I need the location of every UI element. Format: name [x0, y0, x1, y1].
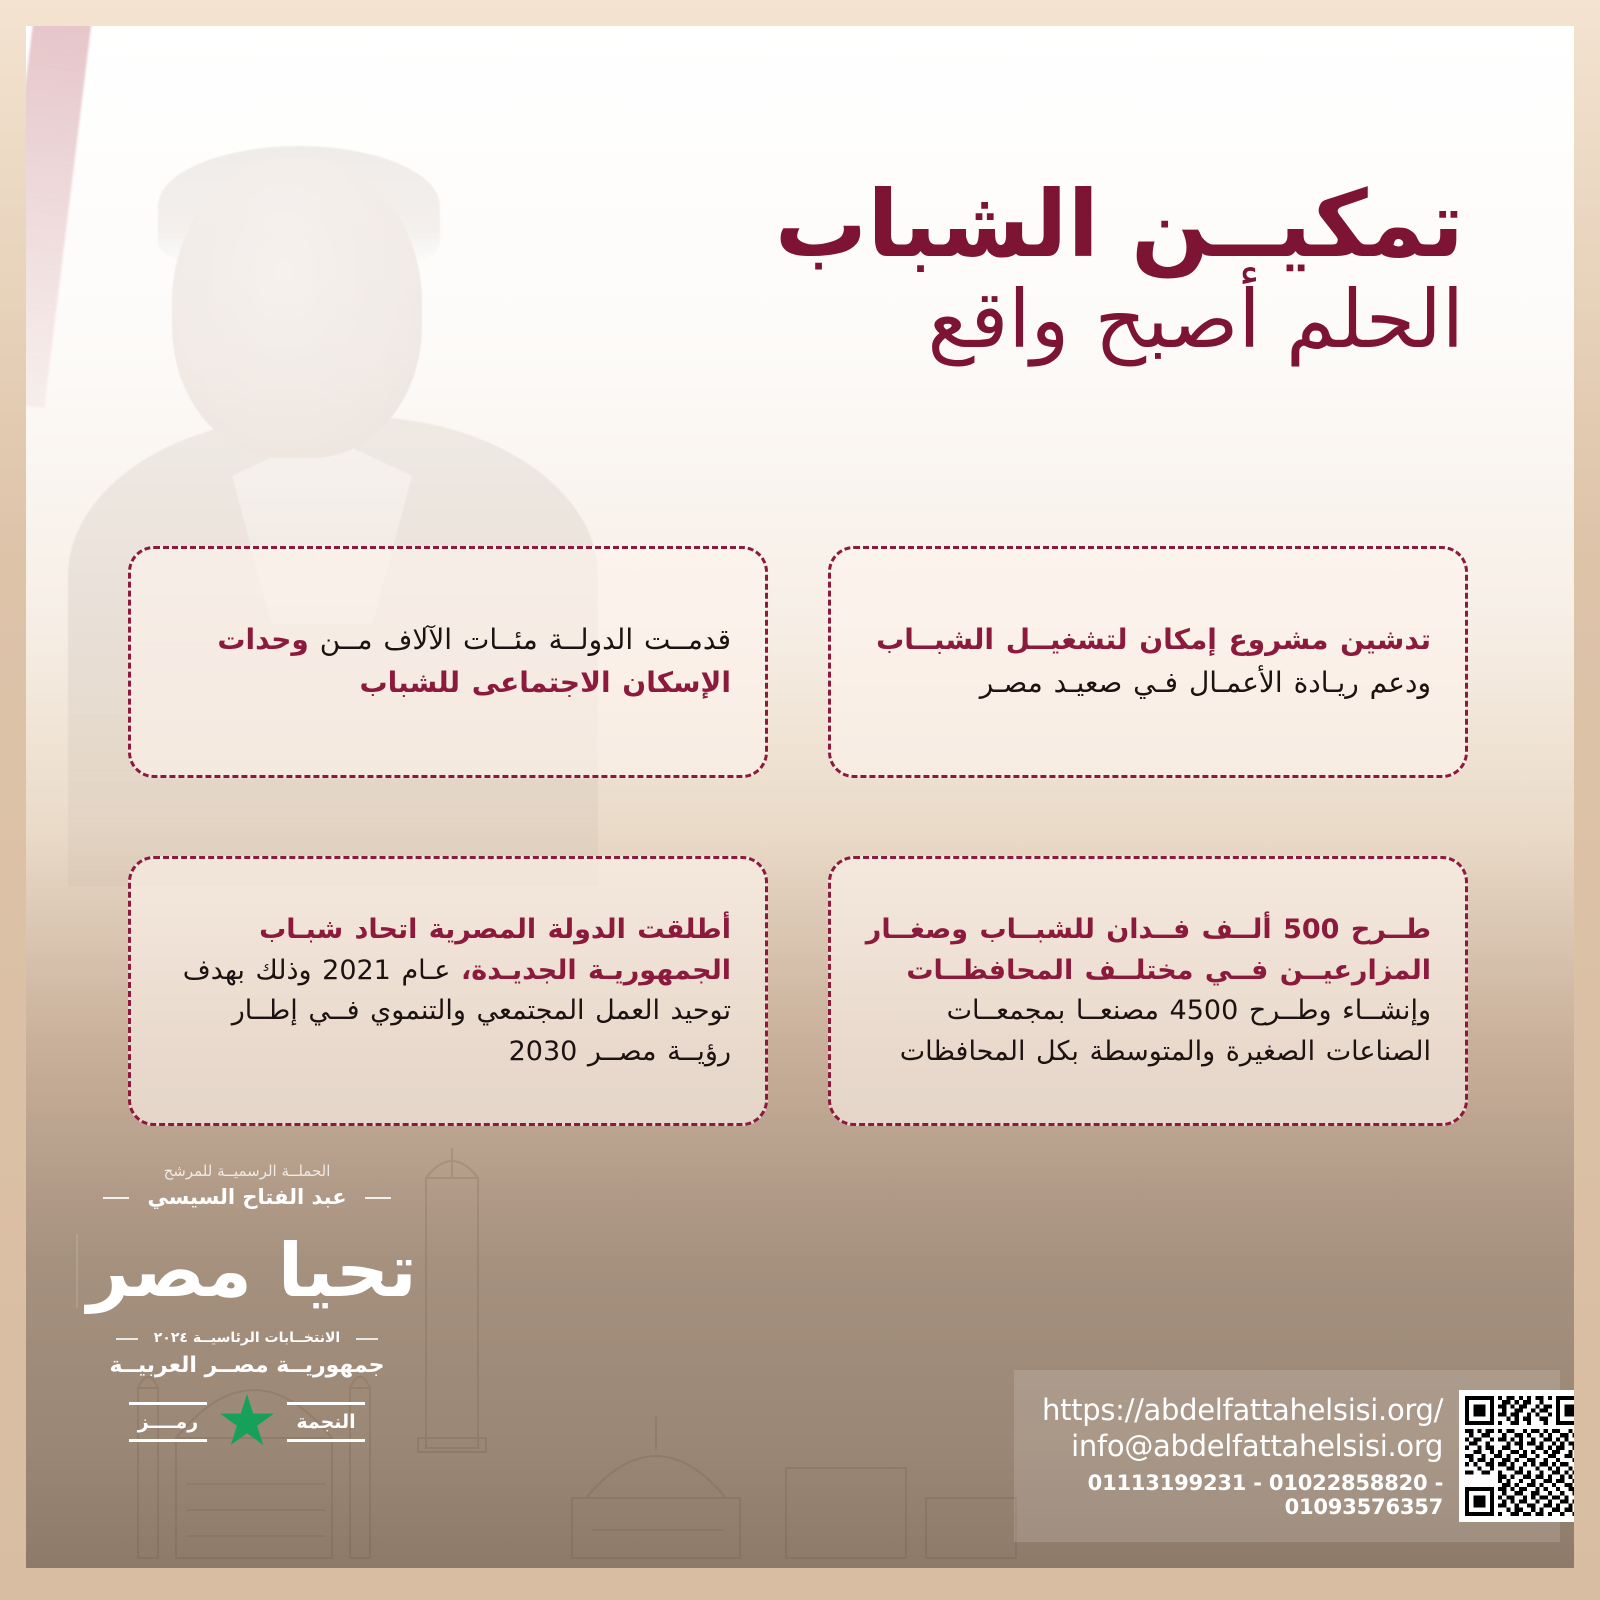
candidate-name: عبد الفتاح السيسي: [131, 1185, 362, 1209]
card-emkan-project: تدشين مشروع إمكان لتشغيــل الشبــاب ودعم…: [828, 546, 1468, 778]
symbol-rule-top-left: [287, 1402, 365, 1405]
poster-canvas: تمكيــن الشباب الحلم أصبح واقع تدشين مشر…: [26, 26, 1574, 1568]
qr-code-image: [1465, 1396, 1574, 1516]
wordmark-text: تحيا مصر: [87, 1234, 417, 1308]
campaign-website-link[interactable]: https://abdelfattahelsisi.org/: [1042, 1393, 1443, 1428]
card-emkan-regular: ودعم ريـادة الأعمـال فـي صعيـد مصـر: [980, 666, 1431, 699]
country-name: جمهوريــة مصــر العربيــة: [82, 1353, 412, 1378]
contact-panel: https://abdelfattahelsisi.org/ info@abde…: [1014, 1370, 1560, 1542]
ballot-symbol-row: النجمة رمــــز: [82, 1394, 412, 1450]
tahya-masr-wordmark: تحيا مصر: [82, 1217, 412, 1325]
symbol-label-cell: رمــــز: [129, 1402, 207, 1442]
card-youth-union: أطلقت الدولة المصرية اتحاد شبـاب الجمهور…: [128, 856, 768, 1126]
contact-lines: https://abdelfattahelsisi.org/ info@abde…: [1042, 1393, 1459, 1519]
card-feddan-regular: وإنشــاء وطــرح 4500 مصنعــا بمجمعــات ا…: [900, 995, 1431, 1067]
election-year-line: الانتخــابات الرئاسيــة ٢٠٢٤: [140, 1330, 354, 1346]
card-social-housing: قدمــت الدولــة مئــات الآلاف مــن وحدات…: [128, 546, 768, 778]
campaign-email-link[interactable]: info@abdelfattahelsisi.org: [1042, 1429, 1443, 1464]
achievement-grid: تدشين مشروع إمكان لتشغيــل الشبــاب ودعم…: [128, 546, 1468, 1126]
portrait-head: [172, 158, 422, 458]
card-union-text: أطلقت الدولة المصرية اتحاد شبـاب الجمهور…: [165, 910, 731, 1072]
campaign-official-line: الحملــة الرسميــة للمرشح: [82, 1162, 412, 1180]
card-housing-regular: قدمــت الدولــة مئــات الآلاف مــن: [309, 623, 731, 656]
headline-secondary: الحلم أصبح واقع: [744, 278, 1464, 363]
qr-code[interactable]: [1459, 1390, 1574, 1522]
poster-frame: تمكيــن الشباب الحلم أصبح واقع تدشين مشر…: [0, 0, 1600, 1600]
symbol-rule-top-right: [129, 1402, 207, 1405]
symbol-rule-bottom-right: [129, 1439, 207, 1442]
campaign-phone-numbers: 01113199231 - 01022858820 - 01093576357: [1042, 1471, 1443, 1519]
card-housing-text: قدمــت الدولــة مئــات الآلاف مــن وحدات…: [165, 619, 731, 704]
star-icon: [219, 1394, 275, 1450]
page-title: تمكيــن الشباب الحلم أصبح واقع: [744, 176, 1464, 362]
campaign-logo-block: الحملــة الرسميــة للمرشح عبد الفتاح الس…: [82, 1162, 412, 1450]
headline-primary: تمكيــن الشباب: [744, 176, 1464, 274]
card-500k-feddan: طــرح 500 ألــف فــدان للشبــاب وصغــار …: [828, 856, 1468, 1126]
card-emkan-text: تدشين مشروع إمكان لتشغيــل الشبــاب ودعم…: [865, 619, 1431, 704]
symbol-name: النجمة: [296, 1411, 355, 1433]
card-emkan-bold: تدشين مشروع إمكان لتشغيــل الشبــاب: [876, 623, 1431, 656]
symbol-rule-bottom-left: [287, 1439, 365, 1442]
card-feddan-text: طــرح 500 ألــف فــدان للشبــاب وصغــار …: [865, 910, 1431, 1072]
symbol-name-cell: النجمة: [287, 1402, 365, 1442]
card-feddan-bold: طــرح 500 ألــف فــدان للشبــاب وصغــار …: [866, 914, 1431, 986]
symbol-label: رمــــز: [138, 1411, 199, 1433]
